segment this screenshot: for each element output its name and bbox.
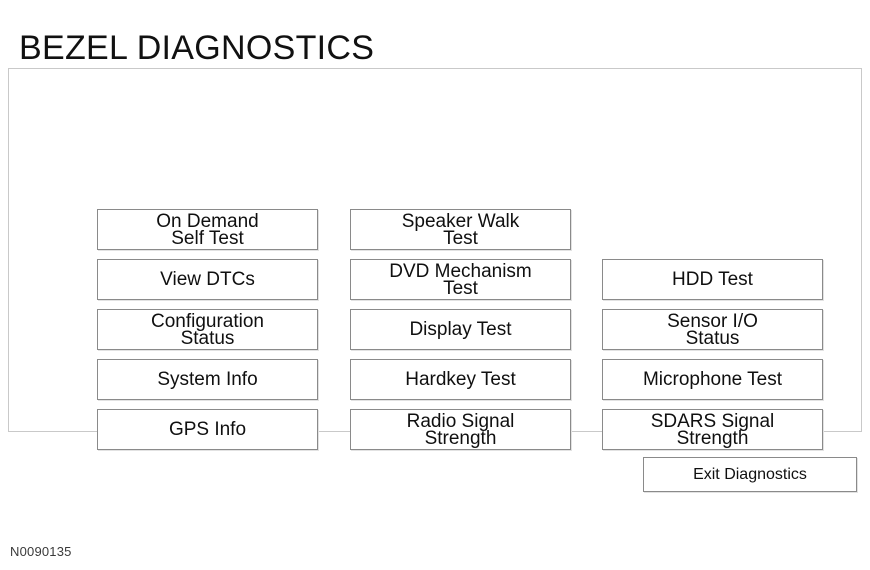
button-hardkey-test[interactable]: Hardkey Test xyxy=(350,359,571,400)
button-label: Configuration Status xyxy=(102,313,313,347)
button-view-dtcs[interactable]: View DTCs xyxy=(97,259,318,300)
button-column-2: Speaker Walk Test DVD Mechanism Test Dis… xyxy=(350,209,571,459)
button-radio-signal-strength[interactable]: Radio Signal Strength xyxy=(350,409,571,450)
button-label: System Info xyxy=(102,371,313,388)
diagnostics-panel: On Demand Self Test View DTCs Configurat… xyxy=(8,68,862,432)
page-title: BEZEL DIAGNOSTICS xyxy=(19,29,374,67)
button-label: Sensor I/O Status xyxy=(607,313,818,347)
button-label: Radio Signal Strength xyxy=(355,413,566,447)
button-configuration-status[interactable]: Configuration Status xyxy=(97,309,318,350)
diagnostics-button-grid: On Demand Self Test View DTCs Configurat… xyxy=(97,209,823,450)
button-hdd-test[interactable]: HDD Test xyxy=(602,259,823,300)
button-display-test[interactable]: Display Test xyxy=(350,309,571,350)
exit-diagnostics-label: Exit Diagnostics xyxy=(693,466,807,484)
button-label: DVD Mechanism Test xyxy=(355,263,566,297)
button-label: Speaker Walk Test xyxy=(355,213,566,247)
button-label: GPS Info xyxy=(102,421,313,438)
button-label: HDD Test xyxy=(607,271,818,288)
button-sensor-io-status[interactable]: Sensor I/O Status xyxy=(602,309,823,350)
button-speaker-walk-test[interactable]: Speaker Walk Test xyxy=(350,209,571,250)
button-dvd-mechanism-test[interactable]: DVD Mechanism Test xyxy=(350,259,571,300)
footer-reference-code: N0090135 xyxy=(10,544,72,559)
button-gps-info[interactable]: GPS Info xyxy=(97,409,318,450)
button-microphone-test[interactable]: Microphone Test xyxy=(602,359,823,400)
button-sdars-signal-strength[interactable]: SDARS Signal Strength xyxy=(602,409,823,450)
button-on-demand-self-test[interactable]: On Demand Self Test xyxy=(97,209,318,250)
button-column-3: HDD Test Sensor I/O Status Microphone Te… xyxy=(602,259,823,459)
button-label: Hardkey Test xyxy=(355,371,566,388)
button-column-1: On Demand Self Test View DTCs Configurat… xyxy=(97,209,318,459)
button-label: View DTCs xyxy=(102,271,313,288)
button-label: SDARS Signal Strength xyxy=(607,413,818,447)
exit-diagnostics-button[interactable]: Exit Diagnostics xyxy=(643,457,857,492)
button-system-info[interactable]: System Info xyxy=(97,359,318,400)
button-label: Microphone Test xyxy=(607,371,818,388)
button-label: On Demand Self Test xyxy=(102,213,313,247)
button-label: Display Test xyxy=(355,321,566,338)
